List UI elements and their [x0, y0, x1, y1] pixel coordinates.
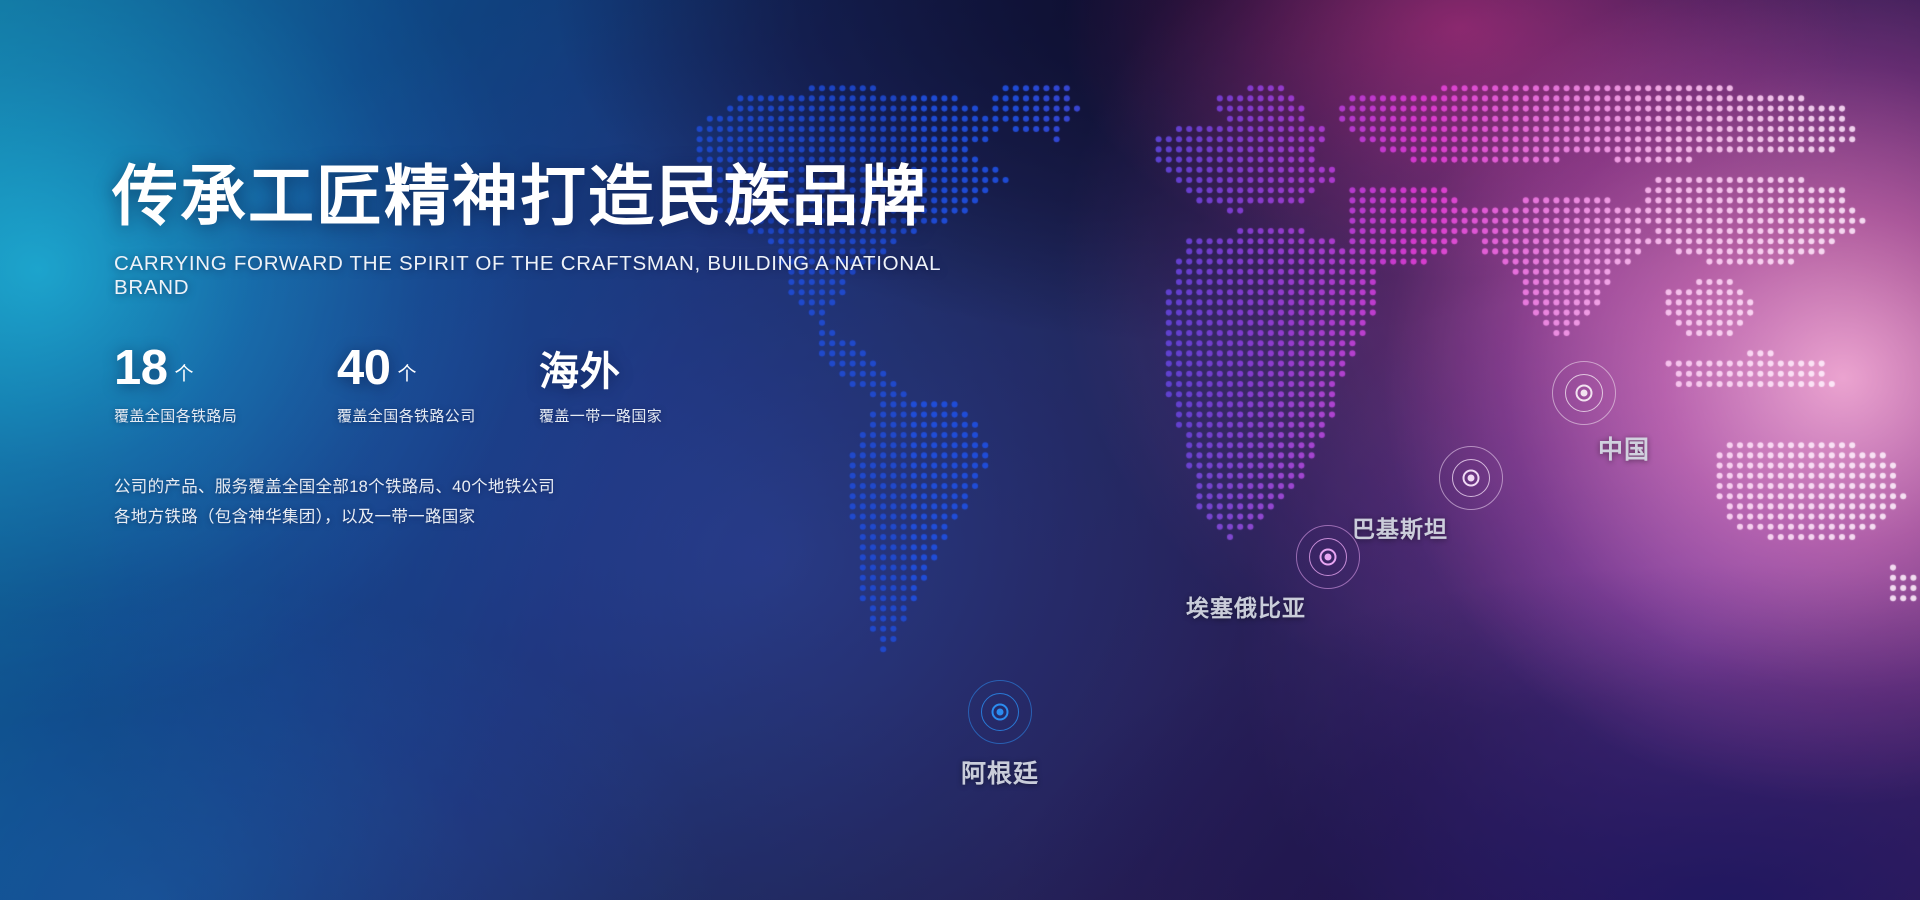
description-line-1: 公司的产品、服务覆盖全国全部18个铁路局、40个地铁公司 [114, 472, 555, 502]
stat-number: 40 [337, 344, 391, 392]
stat-description: 覆盖一带一路国家 [539, 405, 662, 426]
stat-value-group: 海外 [539, 338, 662, 392]
stat-description: 覆盖全国各铁路局 [114, 405, 237, 426]
text-content-block: 传承工匠精神打造民族品牌 CARRYING FORWARD THE SPIRIT… [112, 0, 1012, 900]
stat-item-overseas: 海外 覆盖一带一路国家 [539, 338, 662, 426]
map-marker-label: 中国 [1598, 430, 1650, 466]
stat-item-railway-companies: 40 个 覆盖全国各铁路公司 [337, 338, 476, 426]
stat-number: 18 [114, 344, 168, 392]
page-subtitle: CARRYING FORWARD THE SPIRIT OF THE CRAFT… [114, 252, 1012, 300]
page-title: 传承工匠精神打造民族品牌 [112, 163, 928, 229]
marker-center-dot [1325, 554, 1332, 561]
stat-number: 海外 [539, 352, 621, 392]
map-marker-label: 巴基斯坦 [1352, 510, 1448, 544]
marker-center-dot [1581, 390, 1588, 397]
stat-unit: 个 [398, 359, 417, 386]
stat-unit: 个 [175, 359, 194, 386]
stat-description: 覆盖全国各铁路公司 [337, 405, 476, 426]
map-marker-label: 埃塞俄比亚 [1186, 589, 1306, 623]
stat-value-group: 18 个 [114, 338, 237, 392]
stat-value-group: 40 个 [337, 338, 476, 392]
stat-item-railway-bureaus: 18 个 覆盖全国各铁路局 [114, 338, 237, 426]
description-paragraph: 公司的产品、服务覆盖全国全部18个铁路局、40个地铁公司 各地方铁路（包含神华集… [114, 472, 555, 532]
description-line-2: 各地方铁路（包含神华集团），以及一带一路国家 [114, 502, 555, 532]
stats-row: 18 个 覆盖全国各铁路局 40 个 覆盖全国各铁路公司 海外 覆盖一带一路国家 [112, 338, 832, 428]
banner-stage: 中国巴基斯坦埃塞俄比亚阿根廷 传承工匠精神打造民族品牌 CARRYING FOR… [0, 0, 1920, 900]
marker-center-dot [1468, 475, 1475, 482]
